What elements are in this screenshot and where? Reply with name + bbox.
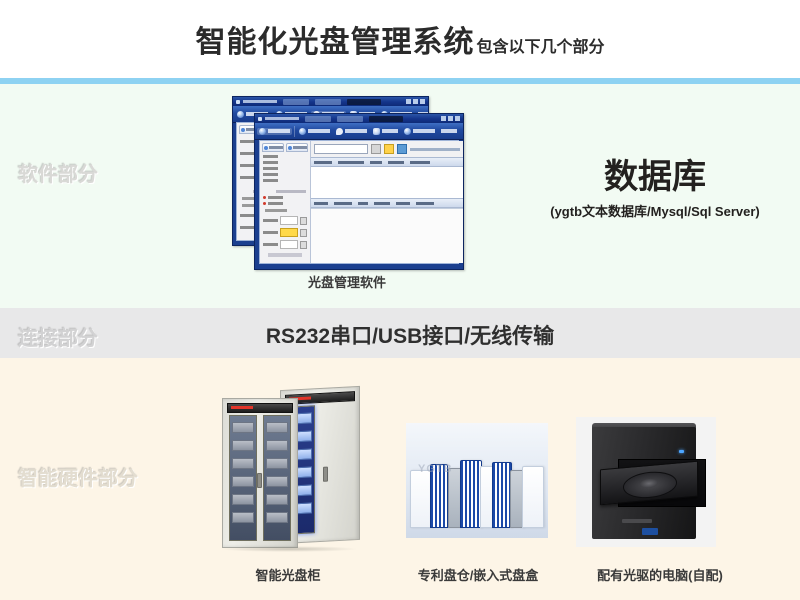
window-title-text (265, 117, 299, 120)
window-titlebar (233, 97, 428, 106)
search-go-icon[interactable] (371, 144, 381, 154)
photo-pc-with-optical-drive (576, 417, 716, 547)
toolbar-button-import[interactable] (257, 128, 292, 135)
toolbar-button-settings[interactable] (371, 128, 400, 135)
form-radio-row[interactable] (263, 202, 307, 205)
form-field-row[interactable] (263, 173, 307, 176)
cabinet-glass-door-right (263, 415, 291, 541)
window-chip-2 (337, 116, 363, 122)
app-window-front[interactable] (254, 113, 464, 270)
window-chip-1 (283, 99, 309, 105)
window-chip-3 (369, 116, 403, 122)
cabinet-shadow (220, 546, 358, 552)
cabinet-glass-door-left (229, 415, 257, 541)
form-action-link[interactable] (268, 253, 302, 257)
window-controls[interactable] (406, 99, 425, 104)
database-title: 数据库 (520, 160, 790, 196)
toolbar-separator (294, 126, 295, 137)
window-body (259, 140, 459, 264)
detail-table[interactable] (311, 208, 463, 263)
results-pane (311, 141, 463, 263)
tab-borrow-info[interactable] (286, 143, 308, 152)
section-label-software: 软件部分 (18, 158, 98, 187)
window-controls[interactable] (441, 116, 460, 121)
cartridge-blue (492, 462, 512, 528)
tab-disc-info[interactable] (262, 143, 284, 152)
form-radio-row[interactable] (263, 196, 307, 199)
pc-badge (642, 528, 658, 535)
window-chip-2 (315, 99, 341, 105)
caption-cartridge: 专利盘仓/嵌入式盘盒 (390, 565, 566, 584)
cartridge-white (522, 466, 544, 528)
pc-front-ports (622, 519, 652, 523)
photo-smart-disc-cabinet (216, 382, 364, 554)
window-toolbar (255, 123, 463, 140)
search-row[interactable] (311, 141, 463, 157)
form-field-row[interactable] (263, 240, 307, 249)
folder-icon[interactable] (384, 144, 394, 154)
form-field-row[interactable] (263, 161, 307, 164)
record-count (410, 148, 460, 151)
form-field-row[interactable] (263, 216, 307, 225)
cabinet-left (222, 398, 298, 548)
window-app-icon (258, 117, 262, 121)
form-field-row[interactable] (263, 179, 307, 182)
caption-pc: 配有光驱的电脑(自配) (565, 565, 755, 584)
form-hint (276, 190, 306, 193)
cabinet-handle (257, 473, 262, 488)
window-title-text (243, 100, 277, 103)
page-title-sub: 包含以下几个部分 (476, 33, 604, 57)
page-title-main: 智能化光盘管理系统 (195, 17, 474, 61)
window-chip-3 (347, 99, 381, 105)
section-label-hardware: 智能硬件部分 (18, 462, 138, 491)
form-field-row[interactable] (263, 167, 307, 170)
window-titlebar (255, 114, 463, 123)
poster-root: 智能化光盘管理系统 包含以下几个部分 软件部分 (0, 0, 800, 600)
software-screenshot (226, 96, 464, 268)
cabinet-handle (323, 467, 328, 482)
section-label-connection: 连接部分 (18, 322, 98, 351)
connection-text: RS232串口/USB接口/无线传输 (200, 320, 620, 350)
database-subtitle: (ygtb文本数据库/Mysql/Sql Server) (520, 201, 790, 220)
watermark-text: YGTB (418, 463, 453, 475)
caption-software: 光盘管理软件 (228, 272, 466, 291)
form-field-row[interactable] (263, 155, 307, 158)
form-pane (260, 141, 311, 263)
database-block: 数据库 (ygtb文本数据库/Mysql/Sql Server) (520, 160, 790, 220)
toolbar-button-exit[interactable] (439, 129, 459, 133)
page-title: 智能化光盘管理系统 包含以下几个部分 (195, 17, 604, 61)
window-app-icon (236, 100, 240, 104)
pane-tabs (262, 143, 308, 152)
cartridge-blue (460, 460, 482, 528)
results-table-body[interactable] (311, 167, 463, 198)
toolbar-button-search[interactable] (402, 128, 437, 135)
search-input[interactable] (314, 144, 368, 154)
results-table-header (311, 157, 463, 167)
detail-table-header (311, 198, 463, 208)
caption-cabinet: 智能光盘柜 (200, 565, 376, 584)
form-static-line (265, 209, 287, 212)
disc-icon[interactable] (397, 144, 407, 154)
pc-power-led-icon (679, 450, 684, 453)
photo-disc-cartridge: YGTB (406, 423, 548, 538)
toolbar-button-export[interactable] (297, 128, 332, 135)
form-field-row[interactable] (263, 228, 307, 237)
page-header: 智能化光盘管理系统 包含以下几个部分 (0, 0, 800, 78)
toolbar-button-query[interactable] (334, 128, 369, 135)
cabinet-display-panel (227, 403, 293, 413)
window-chip-1 (305, 116, 331, 122)
